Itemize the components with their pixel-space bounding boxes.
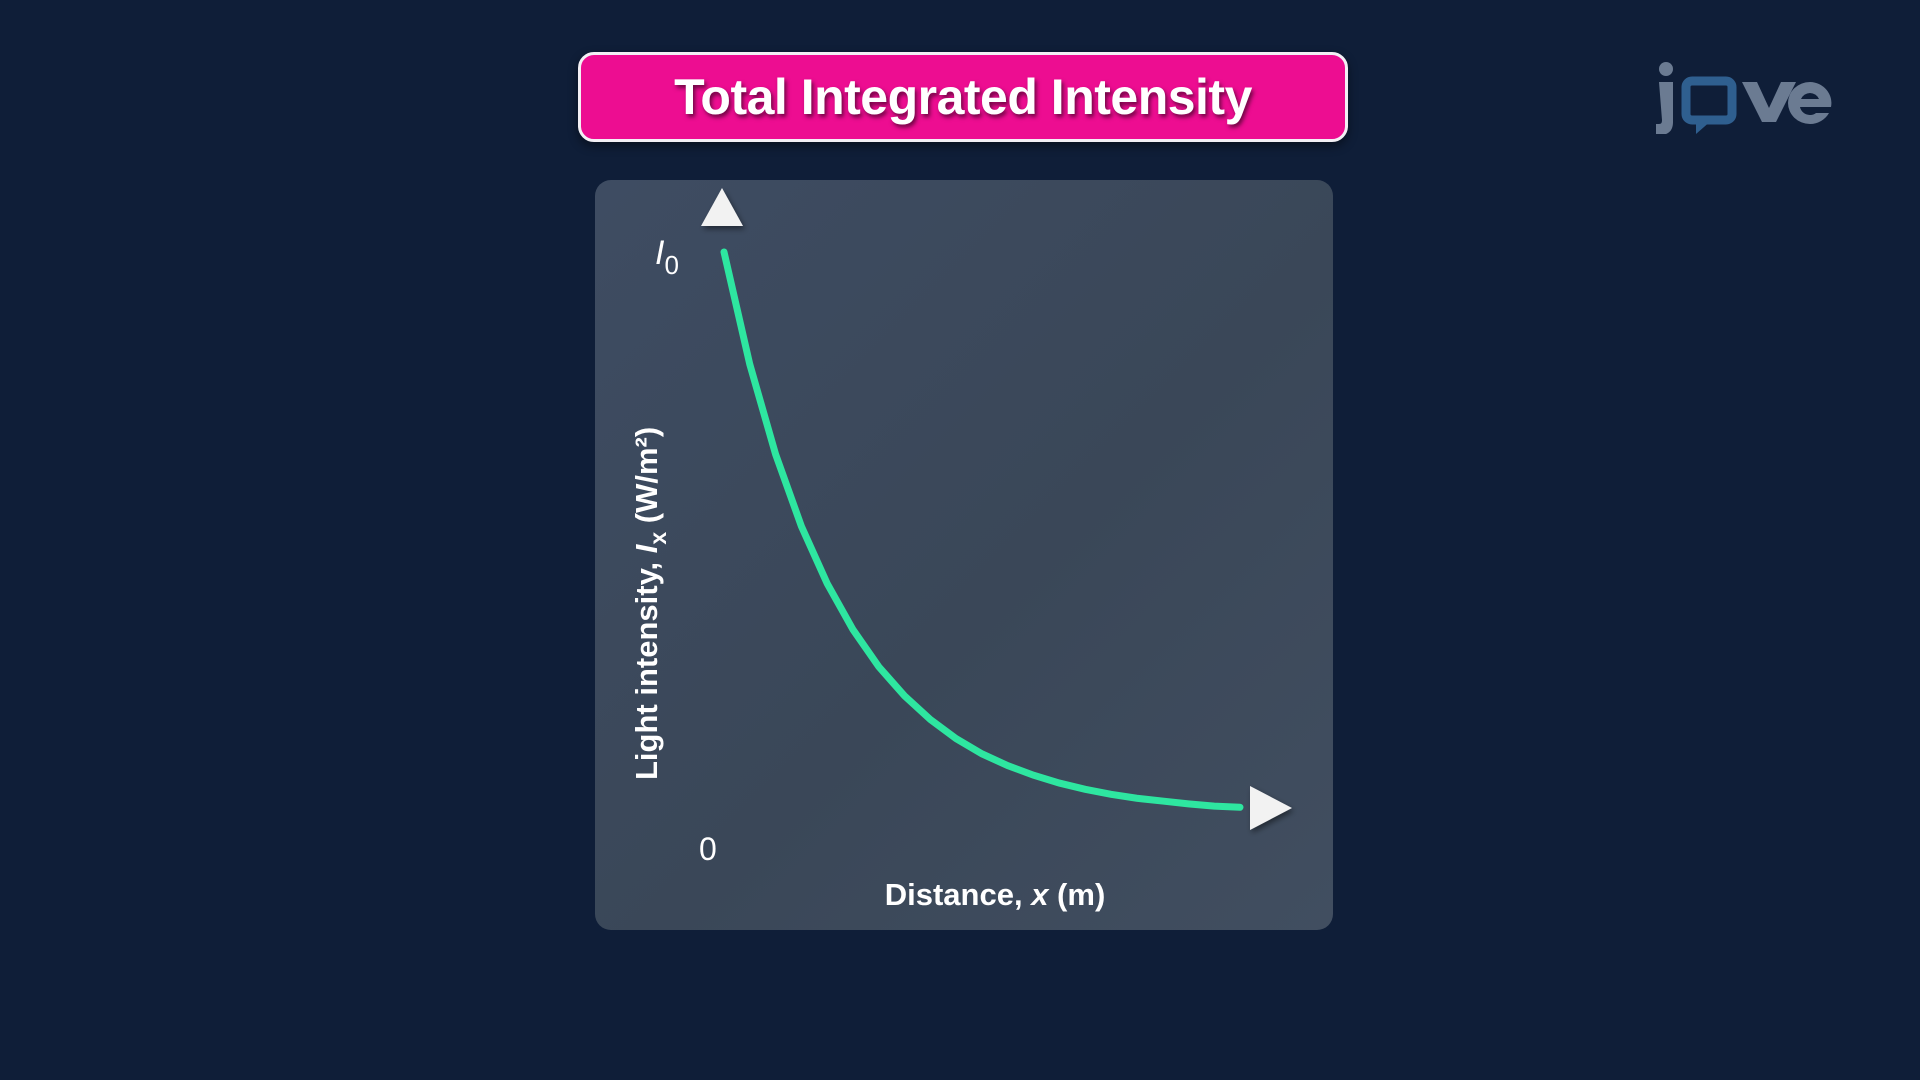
y-axis-title-prefix: Light intensity,: [629, 553, 664, 780]
x-axis-arrow-icon: [1250, 786, 1292, 830]
y-tick-sub-0: 0: [664, 250, 678, 280]
y-axis-title-sub: x: [645, 532, 671, 545]
x-axis-title-suffix: (m): [1048, 877, 1105, 912]
title-banner: Total Integrated Intensity: [578, 52, 1348, 142]
y-axis-title-suffix: (W/m²): [629, 427, 664, 532]
x-axis-title: Distance, x (m): [885, 877, 1106, 912]
x-axis-title-prefix: Distance,: [885, 877, 1031, 912]
y-axis-arrow-icon: [701, 188, 743, 226]
jove-logo-icon: [1650, 58, 1835, 134]
chart-panel: I0 0 Light intensity, Ix (W/m²) Distance…: [595, 180, 1333, 930]
intensity-curve: [724, 252, 1240, 807]
intensity-decay-chart: I0 0 Light intensity, Ix (W/m²) Distance…: [595, 180, 1333, 930]
x-axis-title-italic: x: [1029, 877, 1050, 912]
y-axis-title: Light intensity, Ix (W/m²): [629, 427, 671, 780]
jove-logo[interactable]: [1650, 58, 1835, 134]
origin-label: 0: [699, 831, 717, 867]
page-title: Total Integrated Intensity: [674, 68, 1252, 126]
y-axis-tick-label-i0: I0: [655, 234, 679, 280]
